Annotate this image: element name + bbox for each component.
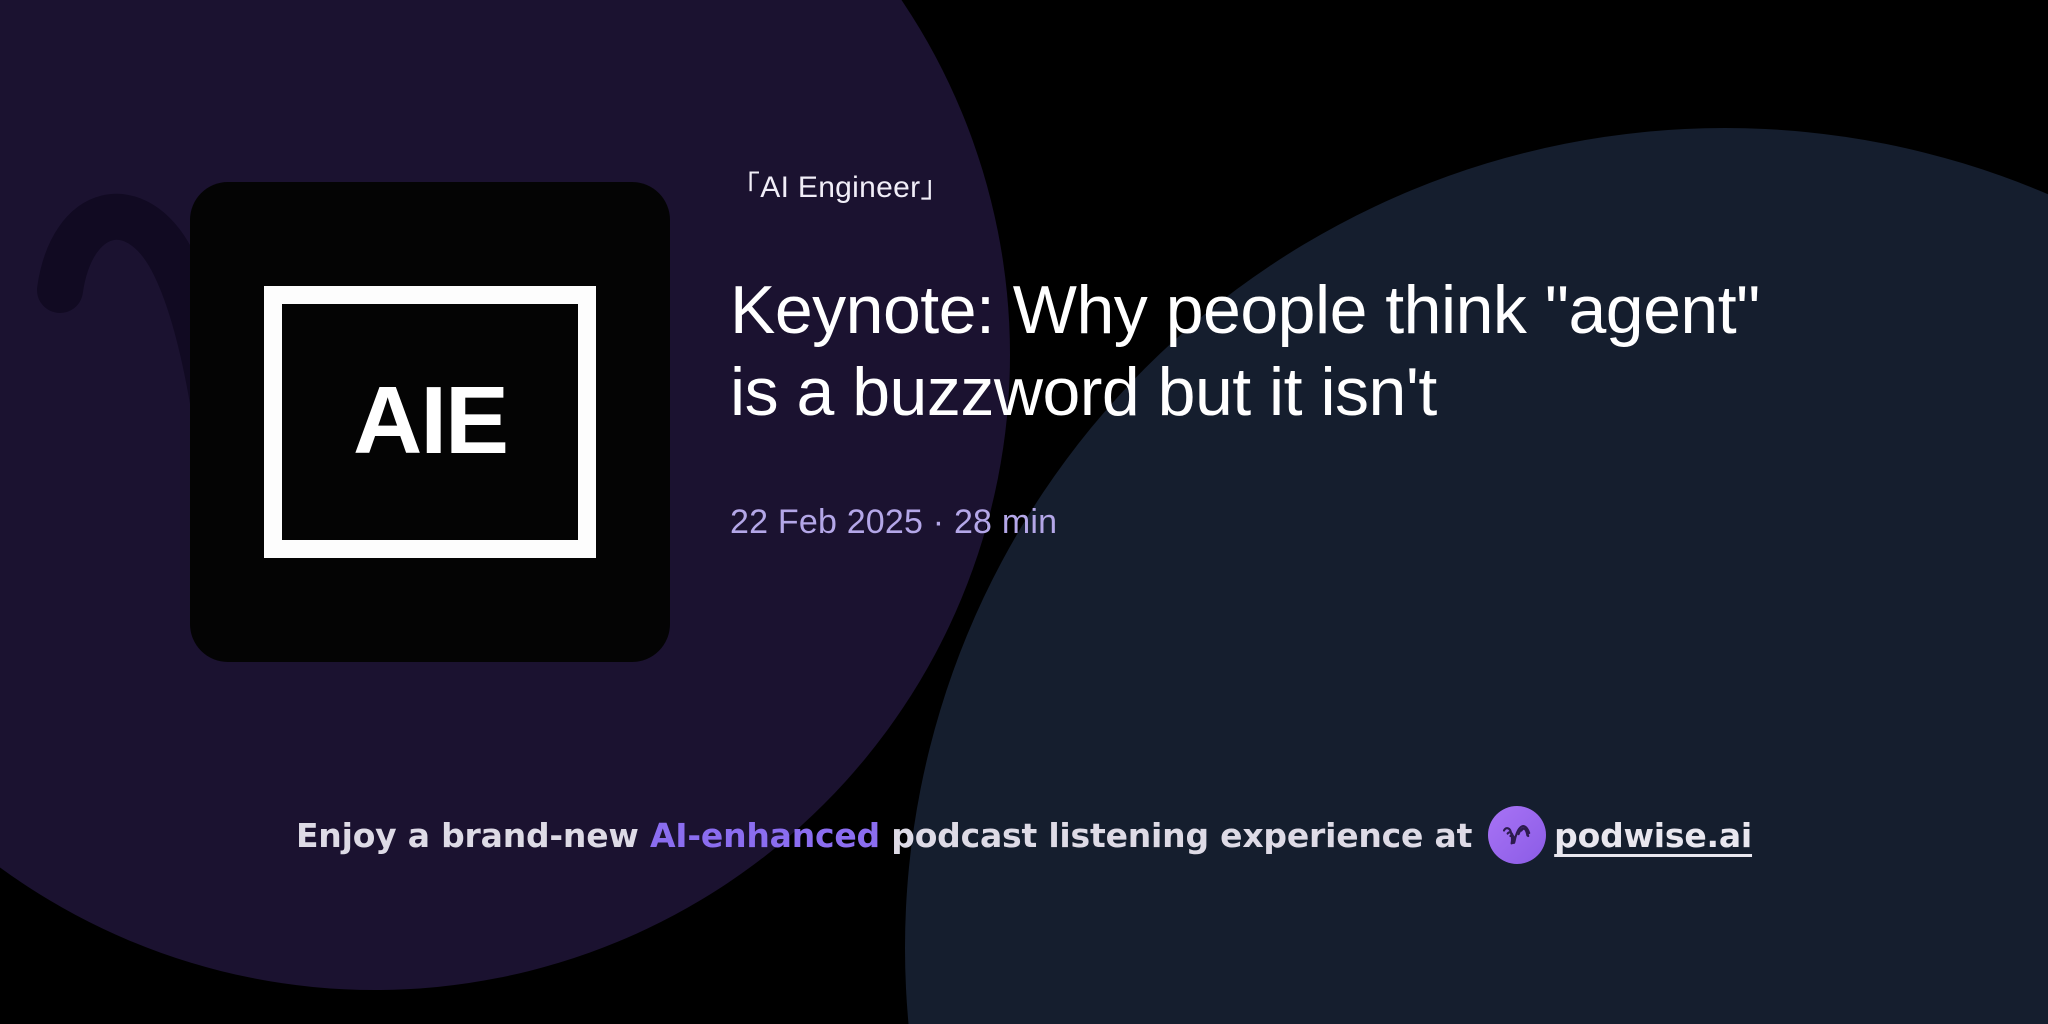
episode-title: Keynote: Why people think "agent" is a b… [730, 270, 1910, 433]
promo-accent-text: AI-enhanced [650, 816, 880, 855]
episode-title-line-2: is a buzzword but it isn't [730, 354, 1437, 430]
promo-lead-text: Enjoy a brand-new [296, 816, 650, 855]
artwork-logo-text: AIE [353, 373, 507, 469]
episode-artwork: AIE [190, 182, 670, 662]
promo-tail-text: podcast listening experience at [880, 816, 1472, 855]
card-content: AIE 「AI Engineer」 Keynote: Why people th… [0, 0, 2048, 1024]
promo-text: Enjoy a brand-new AI-enhanced podcast li… [296, 816, 1472, 855]
podwise-brand-link[interactable]: podwise.ai [1488, 806, 1752, 864]
podwise-logo-icon [1488, 806, 1546, 864]
show-name: 「AI Engineer」 [730, 170, 1960, 206]
podcast-episode-share-card: AIE 「AI Engineer」 Keynote: Why people th… [0, 0, 2048, 1024]
episode-title-line-1: Keynote: Why people think "agent" [730, 272, 1760, 348]
episode-meta-date-duration: 22 Feb 2025 · 28 min [730, 503, 1960, 542]
podwise-url-text[interactable]: podwise.ai [1554, 816, 1752, 855]
promo-banner: Enjoy a brand-new AI-enhanced podcast li… [0, 800, 2048, 870]
artwork-frame: AIE [264, 286, 596, 558]
episode-text-block: 「AI Engineer」 Keynote: Why people think … [730, 170, 1960, 542]
